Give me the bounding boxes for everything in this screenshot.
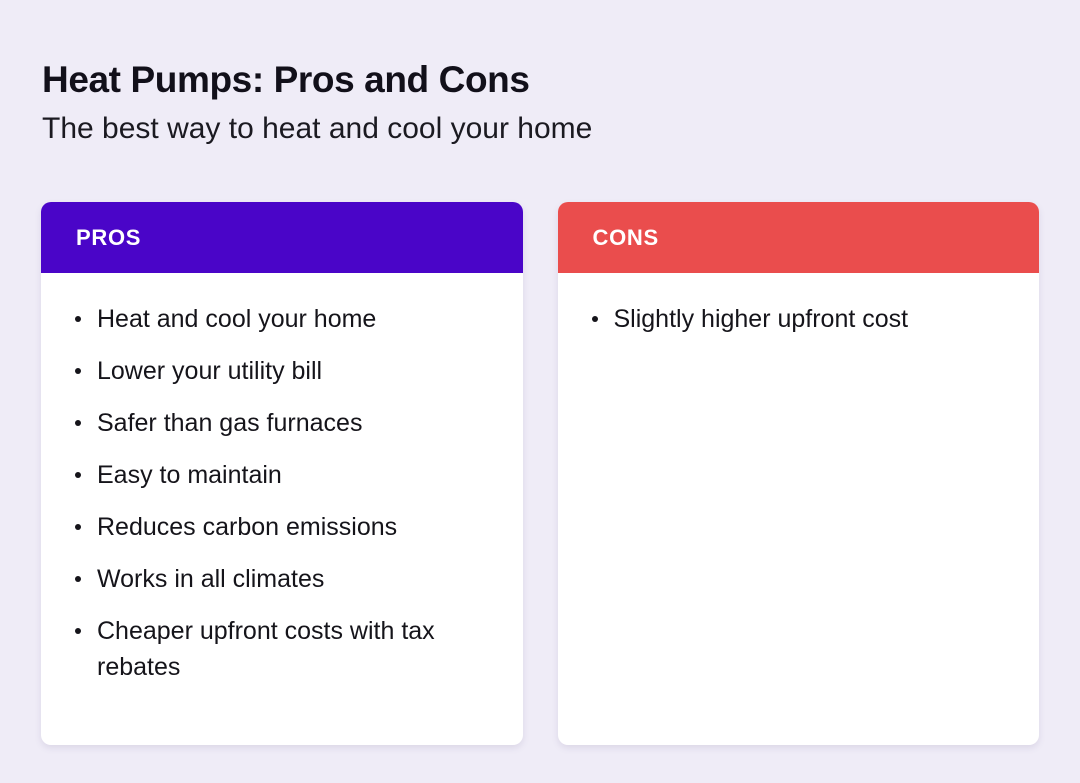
list-item-text: Reduces carbon emissions xyxy=(97,513,397,541)
pros-card: PROS Heat and cool your home Lower your … xyxy=(41,202,523,745)
cons-card: CONS Slightly higher upfront cost xyxy=(558,202,1040,745)
bullet-icon xyxy=(75,576,81,582)
bullet-icon xyxy=(75,472,81,478)
list-item: Lower your utility bill xyxy=(69,353,495,389)
cons-card-header: CONS xyxy=(558,202,1040,273)
bullet-icon xyxy=(75,420,81,426)
list-item: Heat and cool your home xyxy=(69,301,495,337)
list-item-text: Heat and cool your home xyxy=(97,305,376,333)
bullet-icon xyxy=(75,524,81,530)
cons-card-body: Slightly higher upfront cost xyxy=(558,273,1040,745)
list-item-text: Slightly higher upfront cost xyxy=(614,305,909,333)
pros-card-header-label: PROS xyxy=(76,225,141,251)
list-item: Slightly higher upfront cost xyxy=(586,301,1012,337)
comparison-cards: PROS Heat and cool your home Lower your … xyxy=(41,202,1039,745)
list-item: Works in all climates xyxy=(69,561,495,597)
bullet-icon xyxy=(75,316,81,322)
list-item-text: Works in all climates xyxy=(97,565,324,593)
list-item: Cheaper upfront costs with tax rebates xyxy=(69,613,495,685)
page-title: Heat Pumps: Pros and Cons xyxy=(42,58,1002,102)
pros-list: Heat and cool your home Lower your utili… xyxy=(69,301,495,685)
page-header: Heat Pumps: Pros and Cons The best way t… xyxy=(42,58,1002,148)
bullet-icon xyxy=(75,368,81,374)
cons-list: Slightly higher upfront cost xyxy=(586,301,1012,337)
list-item-text: Safer than gas furnaces xyxy=(97,409,362,437)
bullet-icon xyxy=(75,628,81,634)
page-subtitle: The best way to heat and cool your home xyxy=(42,110,1002,148)
cons-card-header-label: CONS xyxy=(593,225,659,251)
list-item: Safer than gas furnaces xyxy=(69,405,495,441)
list-item-text: Cheaper upfront costs with tax rebates xyxy=(97,617,435,681)
list-item-text: Lower your utility bill xyxy=(97,357,322,385)
pros-card-body: Heat and cool your home Lower your utili… xyxy=(41,273,523,745)
pros-card-header: PROS xyxy=(41,202,523,273)
infographic-page: Heat Pumps: Pros and Cons The best way t… xyxy=(0,0,1080,783)
bullet-icon xyxy=(592,316,598,322)
list-item-text: Easy to maintain xyxy=(97,461,282,489)
list-item: Reduces carbon emissions xyxy=(69,509,495,545)
list-item: Easy to maintain xyxy=(69,457,495,493)
